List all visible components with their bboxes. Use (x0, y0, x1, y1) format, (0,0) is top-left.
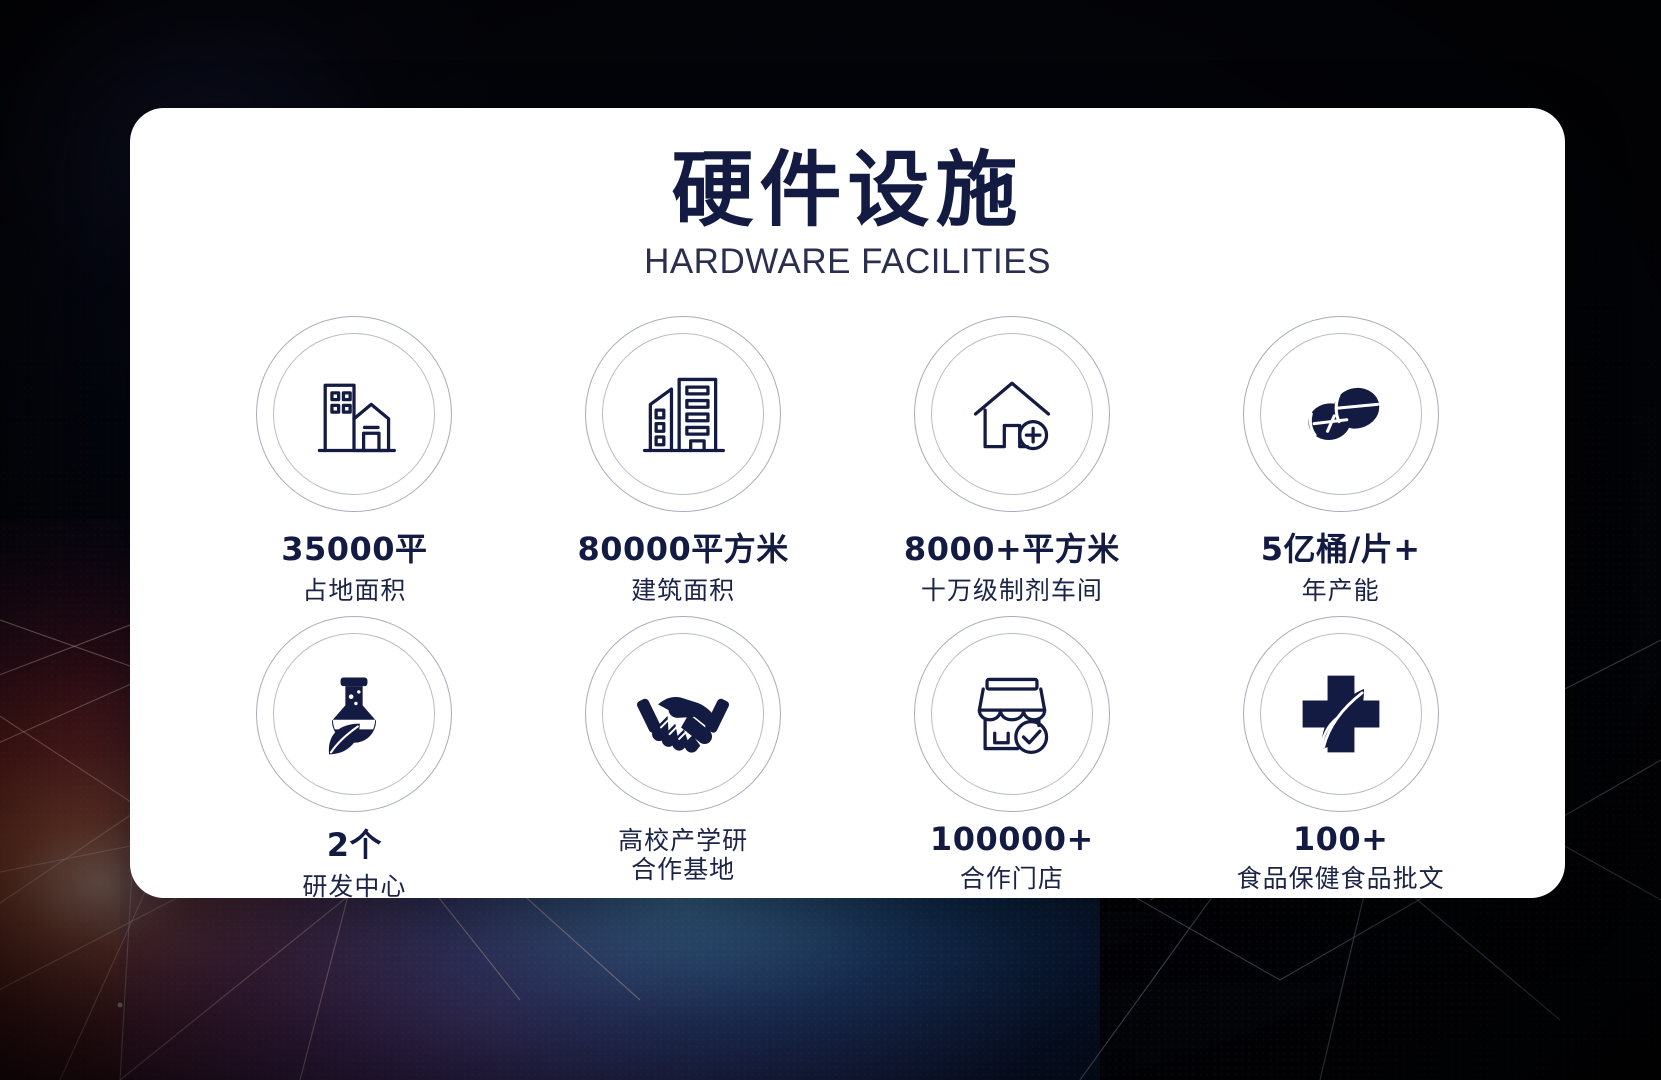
stat-label: 合作门店 (960, 864, 1064, 894)
stat-ring-outer (256, 616, 452, 812)
stat-label: 占地面积 (302, 576, 406, 606)
stat-ring-inner (602, 633, 764, 795)
stat-item-building-area: 80000平方米 建筑面积 (519, 316, 848, 606)
stat-value: 80000平方米 (577, 524, 788, 570)
pills-tablets-icon (1293, 366, 1389, 462)
stat-item-university-cooperation: 高校产学研 合作基地 (519, 616, 848, 906)
office-buildings-icon (635, 366, 731, 462)
stat-item-partner-stores: 100000+ 合作门店 (848, 616, 1177, 906)
stat-value: 5亿桶/片+ (1261, 524, 1421, 570)
stat-label: 十万级制剂车间 (921, 576, 1103, 606)
stat-ring-outer (914, 616, 1110, 812)
stat-ring-outer (1243, 616, 1439, 812)
stat-label: 食品保健食品批文 (1237, 864, 1445, 894)
stat-ring-inner (602, 333, 764, 495)
stats-grid: 35000平 占地面积 (130, 316, 1565, 905)
stat-ring-inner (1260, 333, 1422, 495)
stat-label: 建筑面积 (631, 576, 735, 606)
stat-ring-outer (585, 616, 781, 812)
stat-value: 35000平 (281, 524, 427, 570)
stat-ring-inner (273, 633, 435, 795)
flask-leaf-icon (306, 666, 402, 762)
stat-ring-outer (585, 316, 781, 512)
factory-building-icon (306, 366, 402, 462)
stat-ring-outer (914, 316, 1110, 512)
content-card: 硬件设施 HARDWARE FACILITIES (130, 108, 1565, 898)
stat-item-workshop: 8000+平方米 十万级制剂车间 (848, 316, 1177, 606)
page-subtitle: HARDWARE FACILITIES (130, 242, 1565, 282)
storefront-check-icon (964, 666, 1060, 762)
stat-label: 研发中心 (302, 872, 406, 902)
stat-ring-outer (1243, 316, 1439, 512)
heading-block: 硬件设施 HARDWARE FACILITIES (130, 108, 1565, 282)
stat-ring-inner (931, 633, 1093, 795)
stat-item-rnd-center: 2个 研发中心 (190, 616, 519, 906)
stat-item-land-area: 35000平 占地面积 (190, 316, 519, 606)
medical-cross-leaf-icon (1293, 666, 1389, 762)
stat-ring-inner (931, 333, 1093, 495)
stat-label: 高校产学研 合作基地 (618, 826, 748, 885)
page-title: 硬件设施 (130, 146, 1565, 236)
stat-item-health-food-approvals: 100+ 食品保健食品批文 (1176, 616, 1505, 906)
stat-value: 100+ (1293, 820, 1389, 858)
stat-value: 8000+平方米 (904, 524, 1120, 570)
handshake-icon (635, 666, 731, 762)
stat-value: 2个 (327, 820, 382, 866)
stat-value: 100000+ (930, 820, 1094, 858)
stat-ring-outer (256, 316, 452, 512)
stat-ring-inner (1260, 633, 1422, 795)
stat-item-annual-capacity: 5亿桶/片+ 年产能 (1176, 316, 1505, 606)
stat-label: 年产能 (1302, 576, 1380, 606)
stat-ring-inner (273, 333, 435, 495)
house-plus-icon (964, 366, 1060, 462)
